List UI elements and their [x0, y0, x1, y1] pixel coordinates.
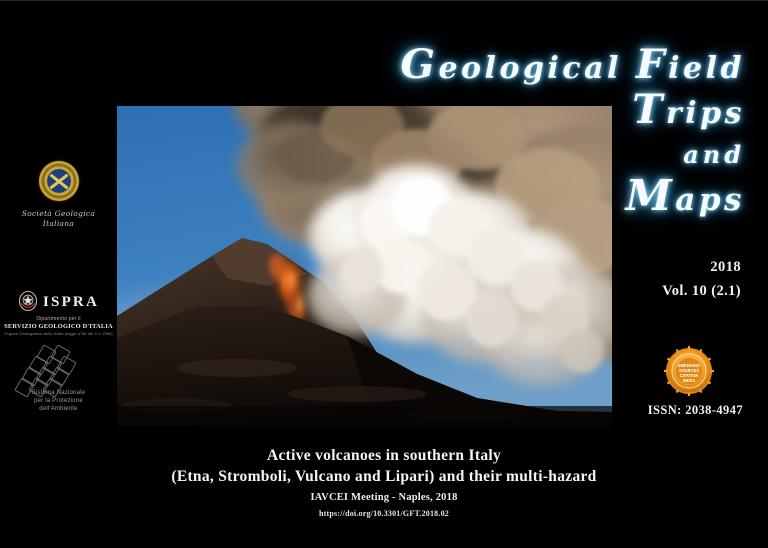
title-cap-m: M — [625, 171, 675, 220]
title-line-maps: Maps — [315, 175, 745, 221]
snpa-logo: Sistema Nazionale per la Protezione dell… — [0, 351, 117, 413]
doi-link[interactable]: https://doi.org/10.3301/GFT.2018.02 — [0, 509, 768, 518]
badge-line-4: INDEX — [683, 378, 696, 383]
esci-badge: EMERGING SOURCES CITATION INDEX — [660, 342, 718, 400]
volume-info: 2018 Vol. 10 (2.1) — [662, 259, 741, 300]
cover-caption: Active volcanoes in southern Italy (Etna… — [0, 446, 768, 518]
title-line-trips: Trips — [315, 88, 745, 135]
sgi-caption-line-2: Italiana — [0, 219, 117, 229]
ispra-logo: ISPRA Dipartimento per il SERVIZIO GEOLO… — [0, 289, 117, 336]
ispra-sub-dipartimento: Dipartimento per il — [0, 316, 117, 322]
ispra-wordmark: ISPRA — [43, 294, 99, 310]
ispra-sub-organo: Organo Cartografico dello Stato (legge n… — [0, 331, 117, 336]
title-text-eological: eological — [438, 51, 635, 86]
snpa-caption-line-2: per la Protezione — [0, 397, 117, 405]
snpa-caption-line-3: dell'Ambiente — [0, 405, 117, 413]
publication-year: 2018 — [662, 259, 741, 276]
meeting-label: IAVCEI Meeting - Naples, 2018 — [0, 492, 768, 503]
sgi-seal-icon — [39, 161, 79, 201]
honeycomb-icon — [9, 351, 109, 387]
title-cap-g: G — [400, 40, 438, 88]
issue-title-line-1: Active volcanoes in southern Italy — [0, 446, 768, 466]
title-line-geological-field: Geological Field — [315, 45, 745, 88]
masthead-title: Geological Field Trips and Maps — [315, 45, 745, 221]
italian-republic-emblem-icon — [18, 290, 38, 314]
sgi-caption-line-1: Società Geologica — [0, 209, 117, 219]
title-text-aps: aps — [675, 182, 745, 218]
ispra-wordmark-row: ISPRA — [0, 289, 117, 315]
title-line-and: and — [315, 135, 745, 175]
volume-issue: Vol. 10 (2.1) — [662, 283, 741, 300]
title-text-ield: ield — [668, 51, 745, 86]
issue-title-line-2: (Etna, Stromboli, Vulcano and Lipari) an… — [0, 466, 768, 487]
logo-column: Società Geologica Italiana ISPRA Diparti… — [0, 161, 117, 411]
societa-geologica-italiana-logo: Società Geologica Italiana — [0, 161, 117, 229]
title-cap-f: F — [636, 40, 668, 88]
issn-label: ISSN: 2038-4947 — [648, 403, 743, 418]
title-cap-t: T — [632, 85, 666, 133]
title-text-rips: rips — [666, 96, 745, 131]
ispra-sub-servizio: SERVIZIO GEOLOGICO D'ITALIA — [0, 323, 117, 330]
journal-cover: Geological Field Trips and Maps 2018 Vol… — [0, 0, 768, 548]
sgi-caption: Società Geologica Italiana — [0, 209, 117, 229]
